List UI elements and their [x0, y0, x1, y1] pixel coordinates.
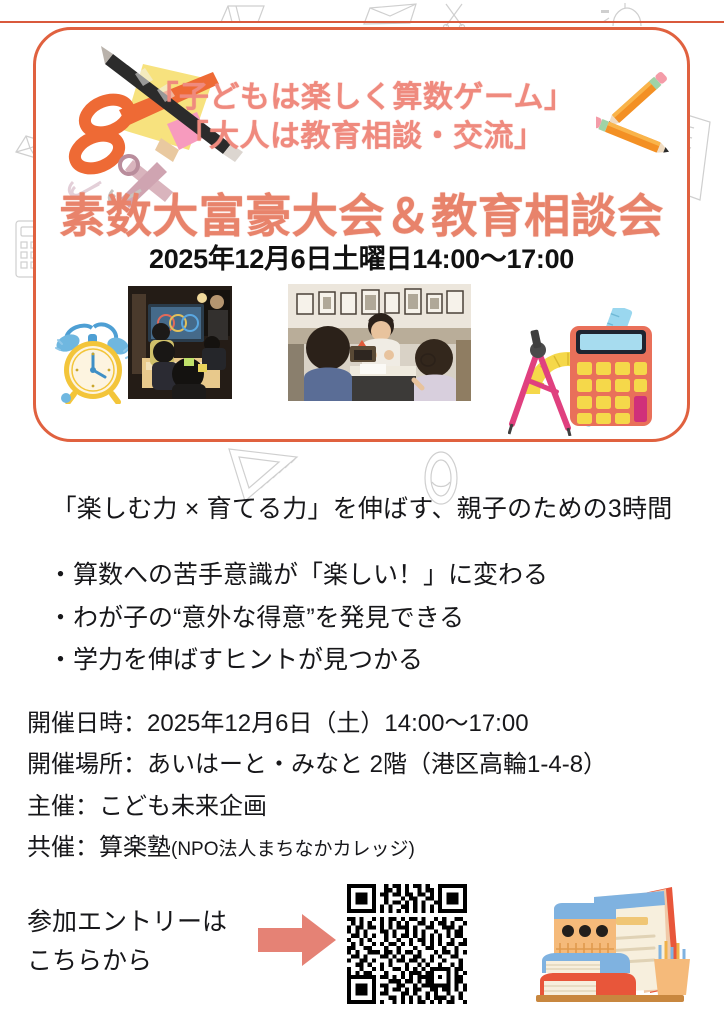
doodle-brush-top — [595, 2, 651, 28]
books-icon — [532, 869, 697, 1009]
detail-label: 共催： — [27, 834, 99, 861]
top-divider-rule — [0, 21, 724, 23]
detail-row-datetime: 開催日時：2025年12月6日（土）14:00〜17:00 — [27, 703, 607, 744]
detail-row-coorganizer: 共催：算楽塾(NPO法人まちなかカレッジ) — [27, 827, 607, 868]
detail-row-organizer: 主催：こども未来企画 — [27, 786, 607, 827]
detail-label: 開催日時： — [27, 710, 147, 737]
hero-subtitle: 「子どもは楽しく算数ゲーム」 「大人は教育相談・交流」 — [36, 78, 687, 156]
detail-label: 開催場所： — [27, 751, 147, 778]
benefit-list: ・算数への苦手意識が「楽しい！」に変わる ・わが子の“意外な得意”を発見できる … — [48, 554, 548, 682]
poster-root: 「子どもは楽しく算数ゲーム」 「大人は教育相談・交流」 素数大富豪大会＆教育相談… — [0, 0, 724, 1024]
hero-card: 「子どもは楽しく算数ゲーム」 「大人は教育相談・交流」 素数大富豪大会＆教育相談… — [33, 27, 690, 442]
detail-value: 2025年12月6日（土）14:00〜17:00 — [147, 710, 529, 737]
detail-value: こども未来企画 — [99, 793, 267, 820]
photo-right — [288, 284, 471, 401]
event-details: 開催日時：2025年12月6日（土）14:00〜17:00 開催場所：あいはーと… — [27, 703, 607, 868]
list-item: ・わが子の“意外な得意”を発見できる — [48, 597, 548, 640]
doodle-envelope-top — [360, 2, 440, 28]
entry-qr-code[interactable] — [347, 884, 467, 1004]
doodle-scissors-top — [440, 2, 470, 30]
list-item: ・算数への苦手意識が「楽しい！」に変わる — [48, 554, 548, 597]
calculator-icon — [508, 308, 666, 436]
photo-left — [128, 286, 232, 399]
entry-cta-label: 参加エントリーは こちらから — [27, 903, 227, 981]
right-arrow-icon — [258, 912, 336, 968]
hero-date: 2025年12月6日土曜日14:00〜17:00 — [36, 237, 687, 276]
detail-value: あいはーと・みなと 2階（港区高輪1-4-8） — [147, 751, 607, 778]
detail-note: (NPO法人まちなかカレッジ) — [171, 839, 415, 860]
alarm-clock-icon — [50, 318, 136, 404]
detail-value: 算楽塾 — [99, 834, 171, 861]
detail-label: 主催： — [27, 793, 99, 820]
list-item: ・学力を伸ばすヒントが見つかる — [48, 639, 548, 682]
doodle-eraser-top — [218, 2, 278, 28]
lead-statement: 「楽しむ力 × 育てる力」を伸ばす、親子のための3時間 — [0, 489, 724, 525]
detail-row-venue: 開催場所：あいはーと・みなと 2階（港区高輪1-4-8） — [27, 744, 607, 785]
